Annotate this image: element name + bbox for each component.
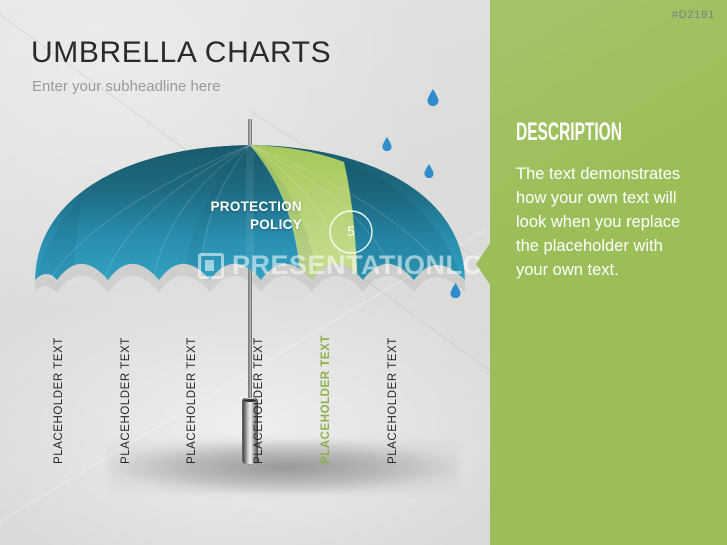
umbrella-diagram: 5 PROTECTION POLICY PLACEHOLDER TEXT PLA…: [0, 0, 490, 545]
umbrella-label-4[interactable]: PLACEHOLDER TEXT: [253, 337, 265, 464]
slide-canvas: UMBRELLA CHARTS Enter your subheadline h…: [0, 0, 727, 545]
raindrop-3: [424, 164, 434, 178]
description-heading: DESCRIPTION: [516, 118, 622, 147]
umbrella-label-1[interactable]: PLACEHOLDER TEXT: [53, 337, 65, 464]
segment-badge-number: 5: [330, 223, 372, 239]
raindrop-1: [427, 89, 439, 106]
panel-arrow-notch: [476, 242, 491, 286]
umbrella-label-3[interactable]: PLACEHOLDER TEXT: [186, 337, 198, 464]
raindrop-2: [382, 137, 392, 151]
umbrella-center-label-line1: PROTECTION: [150, 198, 302, 216]
umbrella-center-label: PROTECTION POLICY: [150, 198, 302, 234]
template-code: #D2191: [672, 9, 715, 21]
umbrella-label-6[interactable]: PLACEHOLDER TEXT: [387, 337, 399, 464]
umbrella-center-label-line2: POLICY: [150, 216, 302, 234]
description-body: The text demonstrates how your own text …: [516, 162, 696, 282]
raindrop-4: [450, 283, 461, 298]
umbrella-label-2[interactable]: PLACEHOLDER TEXT: [120, 337, 132, 464]
umbrella-label-5[interactable]: PLACEHOLDER TEXT: [320, 335, 332, 464]
